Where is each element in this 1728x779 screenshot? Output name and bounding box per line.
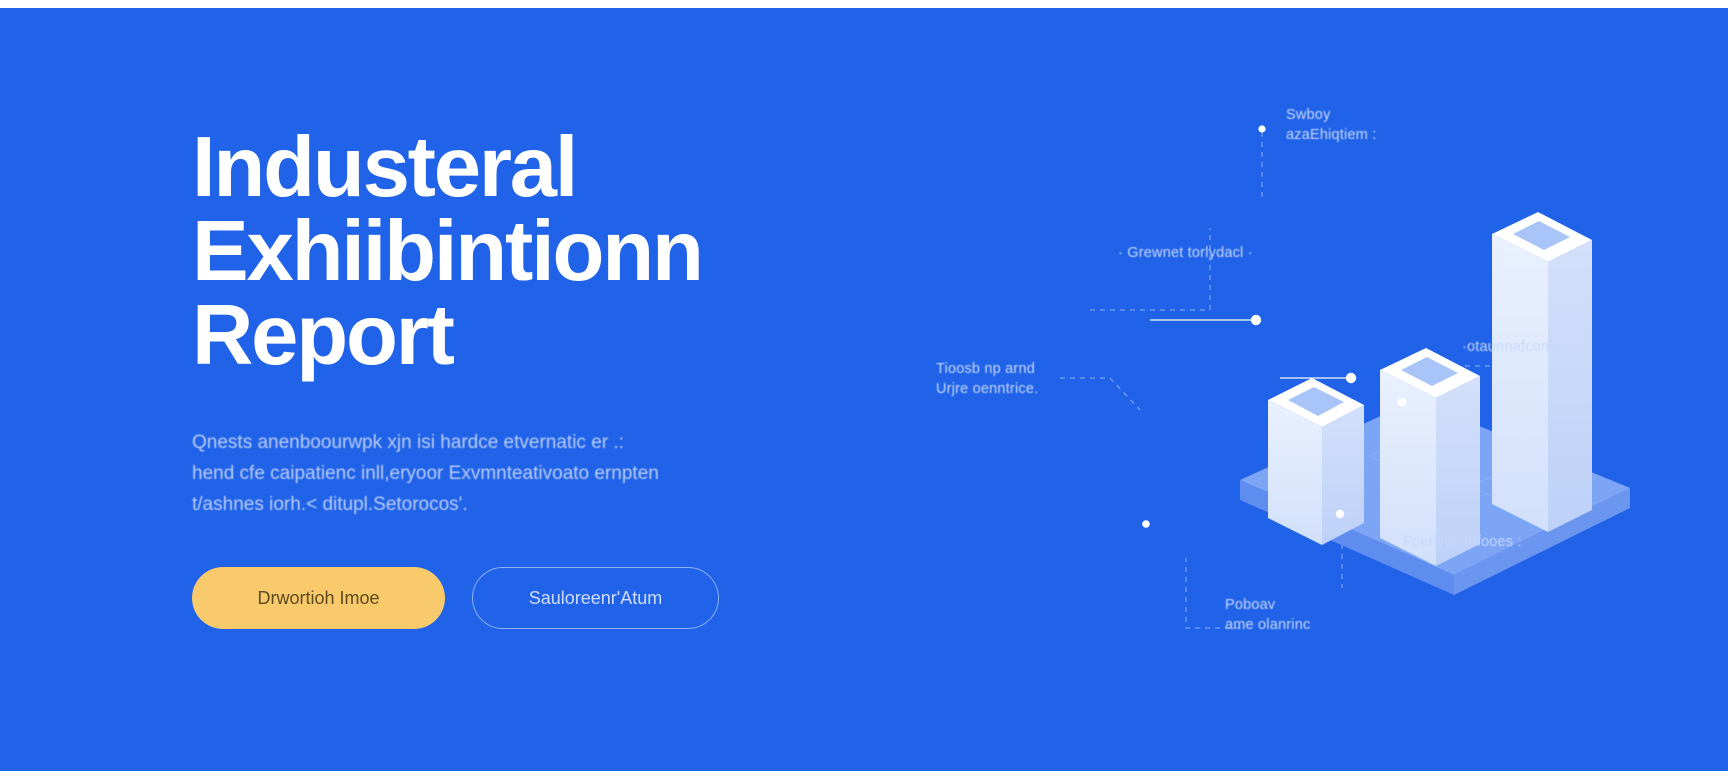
hero-banner: Industeral Exhiibintionn Report Qnests a… xyxy=(0,8,1728,771)
annotation-sotaunnafconn: ·otaunnafconn · xyxy=(1462,338,1567,358)
annotation-poboav: Poboav ame olanrinc xyxy=(1225,596,1310,635)
bar-column-1 xyxy=(1268,378,1364,545)
isometric-bar-chart-illustration: Swboy azaEhiqtiem : · Grewnet torlydacl … xyxy=(940,48,1700,748)
pointer-stubs xyxy=(1150,320,1350,378)
cta-button-group: Drwortioh Imoe Sauloreenr'Atum xyxy=(192,567,892,629)
annotation-swboy: Swboy azaEhiqtiem : xyxy=(1286,106,1376,145)
bar-column-3 xyxy=(1492,212,1592,532)
annotation-foerlyunim: Foerlyunimfooes : xyxy=(1403,533,1522,553)
hero-description: Qnests anenboourwpk xjn isi hardce etver… xyxy=(192,428,692,521)
annotation-grewnet: · Grewnet torlydacl · xyxy=(1118,244,1253,264)
annotation-tioosb: Tioosb np arnd Urjre oenntrice. xyxy=(936,360,1038,399)
page-title: Industeral Exhiibintionn Report xyxy=(192,126,892,378)
download-button[interactable]: Drwortioh Imoe xyxy=(192,567,445,629)
learn-more-button[interactable]: Sauloreenr'Atum xyxy=(472,567,719,629)
chart-svg xyxy=(940,48,1700,748)
hero-content: Industeral Exhiibintionn Report Qnests a… xyxy=(192,126,892,629)
